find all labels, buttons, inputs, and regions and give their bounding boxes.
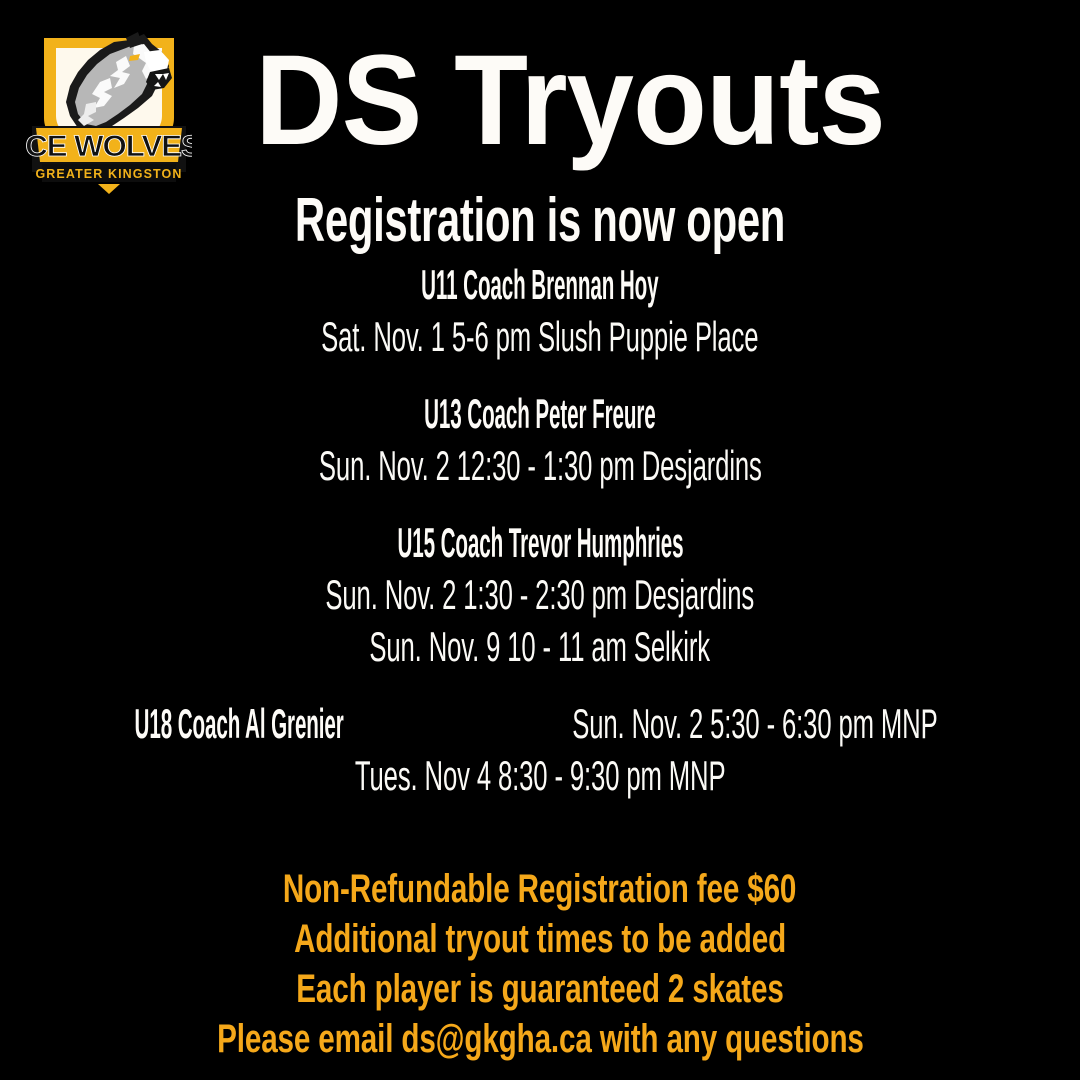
svg-text:ICE WOLVES: ICE WOLVES [26, 130, 192, 163]
notes-block: Non-Refundable Registration fee $60 Addi… [0, 864, 1080, 1064]
group-heading: U15 Coach Trevor Humphries [397, 516, 683, 569]
note-additional-times: Additional tryout times to be added [294, 914, 786, 964]
note-contact-email: Please email ds@gkgha.ca with any questi… [217, 1014, 864, 1064]
tryout-schedule: U11 Coach Brennan Hoy Sat. Nov. 1 5-6 pm… [0, 258, 1080, 802]
session-line: Sun. Nov. 2 1:30 - 2:30 pm Desjardins [326, 569, 755, 621]
svg-text:GREATER KINGSTON: GREATER KINGSTON [35, 167, 182, 181]
group-heading: U13 Coach Peter Freure [424, 387, 656, 440]
session-line: Sat. Nov. 1 5-6 pm Slush Puppie Place [321, 311, 758, 363]
session-line: Tues. Nov 4 8:30 - 9:30 pm MNP [355, 750, 726, 802]
group-heading: U18 Coach Al Grenier [134, 697, 343, 750]
note-guaranteed-skates: Each player is guaranteed 2 skates [296, 964, 783, 1014]
session-line: Sun. Nov. 2 5:30 - 6:30 pm MNP [573, 698, 938, 750]
logo-subtitle-strip: GREATER KINGSTON [35, 164, 182, 182]
tryout-group: U18 Coach Al Grenier Sun. Nov. 2 5:30 - … [0, 697, 1080, 802]
note-fee: Non-Refundable Registration fee $60 [283, 864, 796, 914]
tryout-group: U13 Coach Peter Freure Sun. Nov. 2 12:30… [0, 387, 1080, 492]
tryouts-poster: ICE WOLVES GREATER KINGSTON DS Tryouts R… [0, 0, 1080, 1080]
ice-wolves-logo: ICE WOLVES GREATER KINGSTON [26, 22, 192, 194]
group-heading: U11 Coach Brennan Hoy [421, 258, 658, 311]
session-line: Sun. Nov. 2 12:30 - 1:30 pm Desjardins [319, 440, 762, 492]
chevron-down-icon [98, 184, 120, 194]
tryout-group: U11 Coach Brennan Hoy Sat. Nov. 1 5-6 pm… [0, 258, 1080, 363]
tryout-group: U15 Coach Trevor Humphries Sun. Nov. 2 1… [0, 516, 1080, 673]
page-subtitle: Registration is now open [175, 186, 905, 256]
session-line: Sun. Nov. 9 10 - 11 am Selkirk [370, 621, 711, 673]
page-title: DS Tryouts [220, 28, 920, 174]
